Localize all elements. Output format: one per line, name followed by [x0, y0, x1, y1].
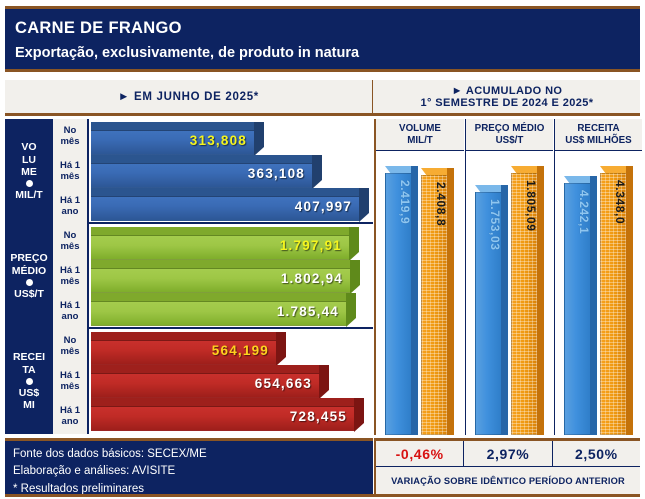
- page-subtitle: Exportação, exclusivamente, de produto i…: [15, 45, 359, 61]
- page-title: CARNE DE FRANGO: [15, 19, 182, 38]
- group-label-line: TA: [22, 364, 35, 376]
- period-label-line: mês: [60, 242, 79, 253]
- period-label-line: No: [64, 336, 77, 347]
- section-header-row: ► EM JUNHO DE 2025* ► ACUMULADO NO 1° SE…: [5, 80, 640, 116]
- group-label-line: PREÇO: [10, 252, 47, 264]
- period-label-line: mês: [60, 172, 79, 183]
- period-label-line: No: [64, 126, 77, 137]
- vbar-value-label: 4.348,0: [600, 180, 627, 224]
- period-labels-receita: No mês Há 1 mês Há 1 ano: [53, 329, 89, 434]
- bar-volume-ha-1-ano: 407,997: [91, 188, 369, 213]
- bar-side-face: [254, 122, 264, 156]
- period-label-ha-1-ano: Há 1 ano: [53, 294, 87, 329]
- period-label-no-mes: No mês: [53, 119, 87, 154]
- section-header-semester: ► ACUMULADO NO 1° SEMESTRE DE 2024 E 202…: [374, 80, 640, 113]
- section-header-semester-line1: ► ACUMULADO NO: [452, 85, 563, 97]
- group-label-line: ME: [21, 166, 37, 178]
- bar-side-face: [276, 332, 286, 366]
- source-line-2: Elaboração e análises: AVISITE: [13, 463, 373, 480]
- vbar-value-label: 1.805,09: [511, 180, 538, 232]
- bar-value-label: 654,663: [255, 376, 312, 391]
- section-header-semester-line2: 1° SEMESTRE DE 2024 E 2025*: [421, 97, 594, 109]
- period-labels-volume: No mês Há 1 mês Há 1 ano: [53, 119, 89, 224]
- variation-note: VARIAÇÃO SOBRE IDÊNTICO PERÍODO ANTERIOR: [376, 468, 640, 494]
- vbar-preco-2025: 1.805,09: [511, 166, 544, 435]
- group-label-unit-line: US$: [19, 387, 39, 399]
- chart-group-preco-medio: PREÇO MÉDIO US$/T No mês Há 1 mês Há 1 a…: [5, 224, 373, 329]
- vbar-value-label: 4.242,1: [564, 190, 591, 234]
- vbar-volume-2024: 2.419,9: [385, 166, 418, 435]
- group-label-unit-line: MI: [23, 399, 35, 411]
- period-label-no-mes: No mês: [53, 224, 87, 259]
- bar-volume-no-mes: 313,808: [91, 122, 264, 147]
- period-label-line: Há 1: [60, 301, 80, 312]
- period-label-line: Há 1: [60, 161, 80, 172]
- bar-side-face: [312, 155, 322, 189]
- period-labels-preco-medio: No mês Há 1 mês Há 1 ano: [53, 224, 89, 329]
- period-label-line: No: [64, 231, 77, 242]
- monthly-chart-panel: VO LU ME MIL/T No mês Há 1 mês Há 1 ano: [5, 119, 373, 435]
- period-label-line: mês: [60, 277, 79, 288]
- vbar-volume-2025: 2.408,8: [421, 168, 454, 435]
- group-label-unit: MIL/T: [15, 189, 42, 201]
- semester-column-header-volume: VOLUME MIL/T: [376, 119, 464, 151]
- title-banner: CARNE DE FRANGO Exportação, exclusivamen…: [5, 6, 640, 72]
- source-notes: Fonte dos dados básicos: SECEX/ME Elabor…: [5, 438, 373, 494]
- bar-value-label: 407,997: [295, 199, 352, 214]
- bar-value-label: 728,455: [290, 409, 347, 424]
- bar-side-face: [354, 398, 364, 432]
- period-label-no-mes: No mês: [53, 329, 87, 364]
- variation-panel: -0,46% 2,97% 2,50% VARIAÇÃO SOBRE IDÊNTI…: [374, 438, 640, 494]
- variation-preco-medio: 2,97%: [463, 441, 551, 466]
- bar-side-face: [359, 188, 369, 222]
- bar-side-face: [590, 176, 597, 435]
- bars-preco-medio: 1.797,91 1.802,94 1.785,44: [91, 224, 373, 329]
- period-label-line: mês: [60, 137, 79, 148]
- group-label-line: MÉDIO: [12, 265, 46, 277]
- bar-side-face: [349, 227, 359, 261]
- period-label-line: ano: [62, 312, 79, 323]
- bars-receita: 564,199 654,663 728,455: [91, 329, 373, 434]
- semester-column-preco-medio: PREÇO MÉDIO US$/T 1.753,03 1.805,09: [465, 119, 553, 435]
- bar-value-label: 313,808: [190, 133, 247, 148]
- column-header-line1: PREÇO MÉDIO: [475, 123, 545, 135]
- bars-volume: 313,808 363,108 407,997: [91, 119, 373, 224]
- group-label-line: LU: [22, 154, 36, 166]
- bar-preco-ha-1-ano: 1.785,44: [91, 293, 356, 318]
- bottom-divider: [5, 494, 640, 497]
- bar-side-face: [501, 185, 508, 435]
- period-label-line: Há 1: [60, 196, 80, 207]
- bar-side-face: [350, 260, 360, 294]
- column-header-line2: US$ MILHÕES: [565, 135, 631, 147]
- period-label-ha-1-mes: Há 1 mês: [53, 154, 87, 189]
- period-label-line: Há 1: [60, 371, 80, 382]
- period-label-line: mês: [60, 347, 79, 358]
- bar-side-face: [319, 365, 329, 399]
- vbar-preco-2024: 1.753,03: [475, 185, 508, 435]
- column-header-line1: RECEITA: [577, 123, 619, 135]
- bar-value-label: 1.802,94: [281, 271, 343, 286]
- variation-values-row: -0,46% 2,97% 2,50%: [376, 441, 640, 467]
- column-header-line2: MIL/T: [407, 135, 433, 147]
- bar-receita-ha-1-ano: 728,455: [91, 398, 364, 423]
- period-label-line: mês: [60, 382, 79, 393]
- semester-column-volume: VOLUME MIL/T 2.419,9 2.408,8: [376, 119, 464, 435]
- group-label-volume: VO LU ME MIL/T: [5, 119, 53, 224]
- chart-group-volume: VO LU ME MIL/T No mês Há 1 mês Há 1 ano: [5, 119, 373, 224]
- semester-column-receita: RECEITA US$ MILHÕES 4.242,1 4.348,0: [554, 119, 642, 435]
- bar-value-label: 1.797,91: [280, 238, 342, 253]
- bar-side-face: [537, 166, 544, 435]
- chart-group-receita: RECEI TA US$ MI No mês Há 1 mês Há 1 ano: [5, 329, 373, 434]
- group-label-line: RECEI: [13, 351, 45, 363]
- vbar-value-label: 2.408,8: [421, 182, 448, 226]
- period-label-ha-1-ano: Há 1 ano: [53, 189, 87, 224]
- infographic-root: CARNE DE FRANGO Exportação, exclusivamen…: [0, 0, 645, 499]
- group-label-preco-medio: PREÇO MÉDIO US$/T: [5, 224, 53, 329]
- bar-value-label: 363,108: [248, 166, 305, 181]
- column-header-line2: US$/T: [496, 135, 524, 147]
- semester-bars-volume: 2.419,9 2.408,8: [376, 152, 464, 435]
- bar-side-face: [447, 168, 454, 435]
- variation-receita: 2,50%: [552, 441, 640, 466]
- bar-volume-ha-1-mes: 363,108: [91, 155, 322, 180]
- semester-column-header-receita: RECEITA US$ MILHÕES: [555, 119, 642, 151]
- bar-preco-ha-1-mes: 1.802,94: [91, 260, 360, 285]
- section-header-monthly: ► EM JUNHO DE 2025*: [5, 80, 373, 113]
- bullet-dot-icon: [26, 279, 33, 286]
- period-label-line: Há 1: [60, 406, 80, 417]
- group-label-unit: US$/T: [14, 288, 44, 300]
- period-label-line: ano: [62, 417, 79, 428]
- semester-column-header-preco-medio: PREÇO MÉDIO US$/T: [466, 119, 553, 151]
- vbar-receita-2025: 4.348,0: [600, 166, 633, 435]
- semester-bars-receita: 4.242,1 4.348,0: [555, 152, 642, 435]
- bullet-dot-icon: [26, 180, 33, 187]
- vbar-value-label: 2.419,9: [385, 180, 412, 224]
- source-line-1: Fonte dos dados básicos: SECEX/ME: [13, 446, 373, 463]
- bar-preco-no-mes: 1.797,91: [91, 227, 359, 252]
- bar-receita-no-mes: 564,199: [91, 332, 286, 357]
- variation-volume: -0,46%: [376, 441, 463, 466]
- period-label-line: ano: [62, 207, 79, 218]
- vbar-receita-2024: 4.242,1: [564, 176, 597, 435]
- bar-side-face: [626, 166, 633, 435]
- semester-chart-panel: VOLUME MIL/T 2.419,9 2.408,8: [374, 119, 640, 435]
- bar-receita-ha-1-mes: 654,663: [91, 365, 329, 390]
- bar-side-face: [346, 293, 356, 327]
- column-header-line1: VOLUME: [399, 123, 441, 135]
- period-label-ha-1-ano: Há 1 ano: [53, 399, 87, 434]
- section-header-monthly-label: ► EM JUNHO DE 2025*: [118, 91, 259, 103]
- bar-side-face: [411, 166, 418, 435]
- period-label-ha-1-mes: Há 1 mês: [53, 364, 87, 399]
- semester-bars-preco-medio: 1.753,03 1.805,09: [466, 152, 553, 435]
- bar-value-label: 564,199: [212, 343, 269, 358]
- period-label-line: Há 1: [60, 266, 80, 277]
- group-label-line: VO: [21, 141, 36, 153]
- period-label-ha-1-mes: Há 1 mês: [53, 259, 87, 294]
- bullet-dot-icon: [26, 378, 33, 385]
- bar-value-label: 1.785,44: [277, 304, 339, 319]
- group-label-receita: RECEI TA US$ MI: [5, 329, 53, 434]
- vbar-value-label: 1.753,03: [475, 199, 502, 251]
